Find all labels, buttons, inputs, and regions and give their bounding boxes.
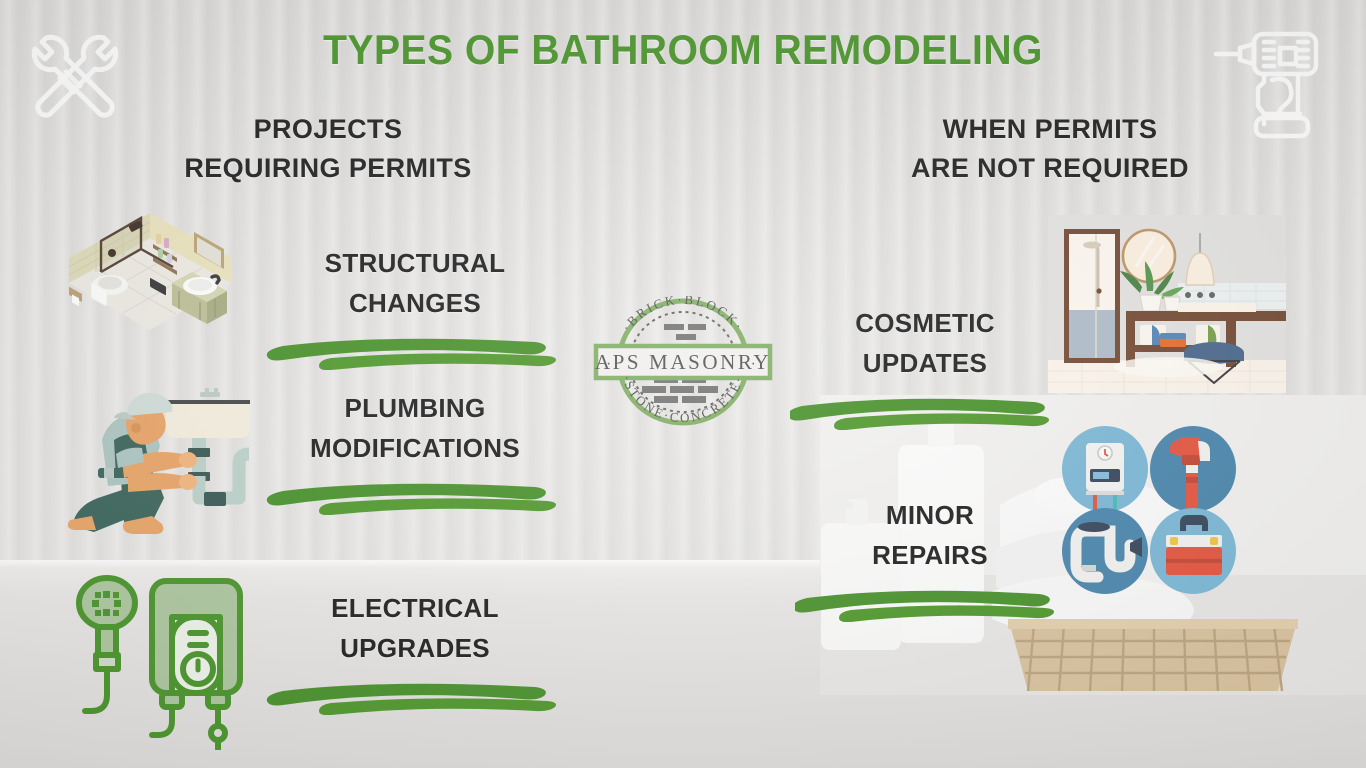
infographic-canvas: TYPES OF BATHROOM REMODELING PROJECTS RE… (0, 0, 1366, 768)
green-underline-stroke (255, 673, 575, 715)
right-item-cosmetic-updates: COSMETIC UPDATES (790, 303, 1060, 430)
isometric-bathroom-illustration (55, 205, 245, 360)
left-item-2-line2: MODIFICATIONS (255, 428, 575, 468)
toolbox-icon (1150, 508, 1236, 594)
pipe-wrench-icon (1150, 426, 1236, 512)
aps-masonry-logo: APS MASONRY · · ·BRICK·BLOCK· ·STONE·CON… (592, 296, 774, 428)
left-item-electrical-upgrades: ELECTRICAL UPGRADES (255, 588, 575, 715)
green-underline-stroke (265, 328, 565, 370)
left-item-structural-changes: STRUCTURAL CHANGES (265, 243, 565, 370)
right-item-1-line2: UPDATES (790, 343, 1060, 383)
left-column-heading: PROJECTS REQUIRING PERMITS (118, 110, 538, 188)
left-item-3-line2: UPGRADES (255, 628, 575, 668)
logo-name: APS MASONRY (595, 350, 771, 374)
green-underline-stroke (790, 388, 1060, 430)
right-item-minor-repairs: MINOR REPAIRS (795, 495, 1065, 622)
right-item-1-line1: COSMETIC (790, 303, 1060, 343)
left-item-1-line2: CHANGES (265, 283, 565, 323)
right-heading-line1: WHEN PERMITS (840, 110, 1260, 149)
right-column-heading: WHEN PERMITS ARE NOT REQUIRED (840, 110, 1260, 188)
left-heading-line1: PROJECTS (118, 110, 538, 149)
left-item-plumbing-modifications: PLUMBING MODIFICATIONS (255, 388, 575, 515)
green-underline-stroke (255, 473, 575, 515)
right-heading-line2: ARE NOT REQUIRED (840, 149, 1260, 188)
left-item-2-line1: PLUMBING (255, 388, 575, 428)
right-item-2-line1: MINOR (795, 495, 1065, 535)
left-heading-line2: REQUIRING PERMITS (118, 149, 538, 188)
shower-and-water-heater-icon (62, 565, 258, 755)
flat-bathroom-illustration (1048, 215, 1286, 398)
logo-dot-right: · (751, 355, 756, 372)
page-title: TYPES OF BATHROOM REMODELING (48, 26, 1318, 74)
right-item-2-line2: REPAIRS (795, 535, 1065, 575)
green-underline-stroke (795, 580, 1065, 622)
service-icon-grid (1060, 425, 1238, 600)
left-item-1-line1: STRUCTURAL (265, 243, 565, 283)
drain-trap-icon (1062, 508, 1148, 594)
plumber-illustration (62, 380, 258, 545)
left-item-3-line1: ELECTRICAL (255, 588, 575, 628)
water-heater-icon (1062, 426, 1148, 512)
logo-dot-left: · (606, 355, 611, 372)
